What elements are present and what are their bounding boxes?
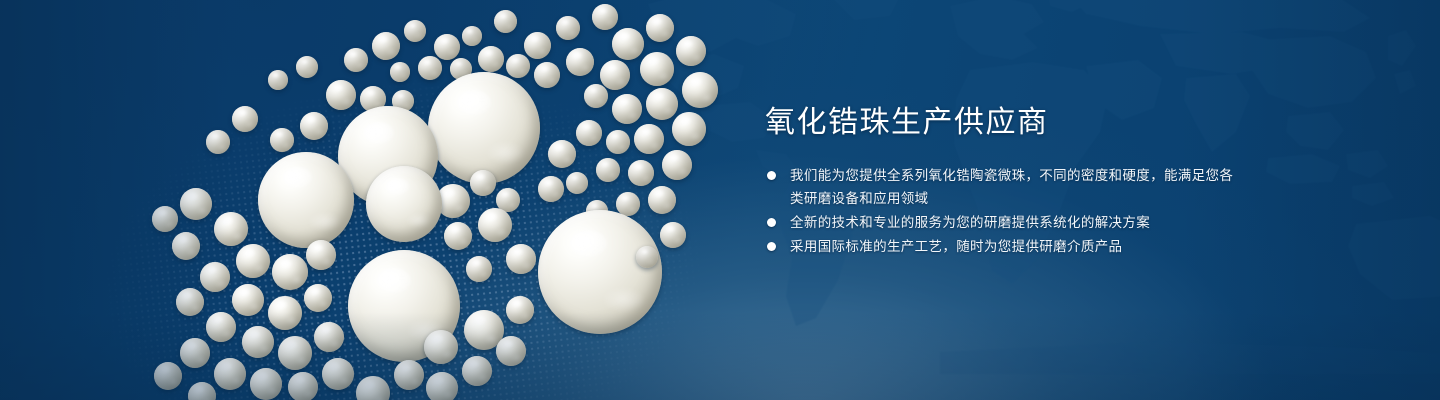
list-item: 我们能为您提供全系列氧化锆陶瓷微珠，不同的密度和硬度，能满足您各类研磨设备和应用…: [765, 164, 1235, 210]
bullet-dot-icon: [767, 242, 776, 251]
list-item: 采用国际标准的生产工艺，随时为您提供研磨介质产品: [765, 235, 1235, 258]
banner-copy: 氧化锆珠生产供应商 我们能为您提供全系列氧化锆陶瓷微珠，不同的密度和硬度，能满足…: [765, 104, 1235, 259]
list-item-label: 全新的技术和专业的服务为您的研磨提供系统化的解决方案: [790, 215, 1150, 230]
list-item-label: 我们能为您提供全系列氧化锆陶瓷微珠，不同的密度和硬度，能满足您各类研磨设备和应用…: [790, 168, 1233, 206]
list-item-label: 采用国际标准的生产工艺，随时为您提供研磨介质产品: [790, 239, 1122, 254]
bullet-dot-icon: [767, 171, 776, 180]
feature-list: 我们能为您提供全系列氧化锆陶瓷微珠，不同的密度和硬度，能满足您各类研磨设备和应用…: [765, 164, 1235, 258]
bullet-dot-icon: [767, 218, 776, 227]
page-title: 氧化锆珠生产供应商: [765, 104, 1235, 142]
hero-banner: 氧化锆珠生产供应商 我们能为您提供全系列氧化锆陶瓷微珠，不同的密度和硬度，能满足…: [0, 0, 1440, 400]
list-item: 全新的技术和专业的服务为您的研磨提供系统化的解决方案: [765, 211, 1235, 234]
